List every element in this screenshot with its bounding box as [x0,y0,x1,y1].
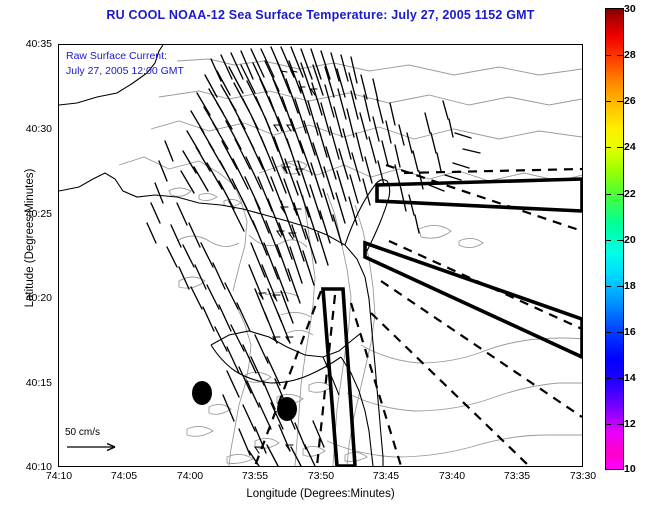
cbmark-24l [605,147,611,148]
map-canvas [59,45,582,466]
xtick-8: 73:30 [570,470,596,482]
xtick-7: 73:35 [504,470,530,482]
cbtick-14: 14 [624,372,636,384]
xtick-3: 73:55 [242,470,268,482]
xtick-2: 74:00 [177,470,203,482]
coastline [59,45,390,466]
cbmark-20r [617,240,623,241]
colorbar [605,8,624,470]
cbtick-28: 28 [624,49,636,61]
xtick-6: 73:40 [439,470,465,482]
cbmark-28r [617,55,623,56]
ytick-0: 40:35 [6,38,52,50]
annotation-line-2: July 27, 2005 12:00 GMT [66,64,184,79]
cbtick-24: 24 [624,141,636,153]
scale-legend: 50 cm/s [65,427,175,453]
cbmark-16r [617,332,623,333]
cbmark-28l [605,55,611,56]
x-axis-label: Longitude (Degrees:Minutes) [58,488,583,500]
cbtick-22: 22 [624,188,636,200]
cbmark-18r [617,286,623,287]
ytick-5: 40:10 [6,461,52,473]
ytick-4: 40:15 [6,377,52,389]
y-axis-label: Latitude (Degrees:Minutes) [24,118,36,358]
figure-title: RU COOL NOAA-12 Sea Surface Temperature:… [58,8,583,22]
cbmark-14l [605,378,611,379]
current-annotation: Raw Surface Current: July 27, 2005 12:00… [66,49,184,79]
cbmark-22l [605,194,611,195]
cbmark-26r [617,101,623,102]
cbmark-12r [617,424,623,425]
annotation-line-1: Raw Surface Current: [66,49,184,64]
cbmark-22r [617,194,623,195]
cbmark-16l [605,332,611,333]
xtick-4: 73:50 [308,470,334,482]
cbmark-18l [605,286,611,287]
cbtick-30: 30 [624,3,636,15]
cbmark-26l [605,101,611,102]
cbtick-16: 16 [624,326,636,338]
cbtick-10: 10 [624,463,636,475]
figure-root: RU COOL NOAA-12 Sea Surface Temperature:… [0,0,651,518]
xtick-1: 74:05 [111,470,137,482]
cbmark-20l [605,240,611,241]
cbmark-12l [605,424,611,425]
cbmark-14r [617,378,623,379]
cbmark-24r [617,147,623,148]
cbtick-20: 20 [624,234,636,246]
cbtick-26: 26 [624,95,636,107]
scale-legend-label: 50 cm/s [65,427,175,438]
arrow-right-icon [65,441,125,453]
xtick-5: 73:45 [373,470,399,482]
cbtick-18: 18 [624,280,636,292]
radar-beam-wedges [323,179,582,466]
cbtick-12: 12 [624,418,636,430]
map-plot-area: Raw Surface Current: July 27, 2005 12:00… [58,44,583,467]
